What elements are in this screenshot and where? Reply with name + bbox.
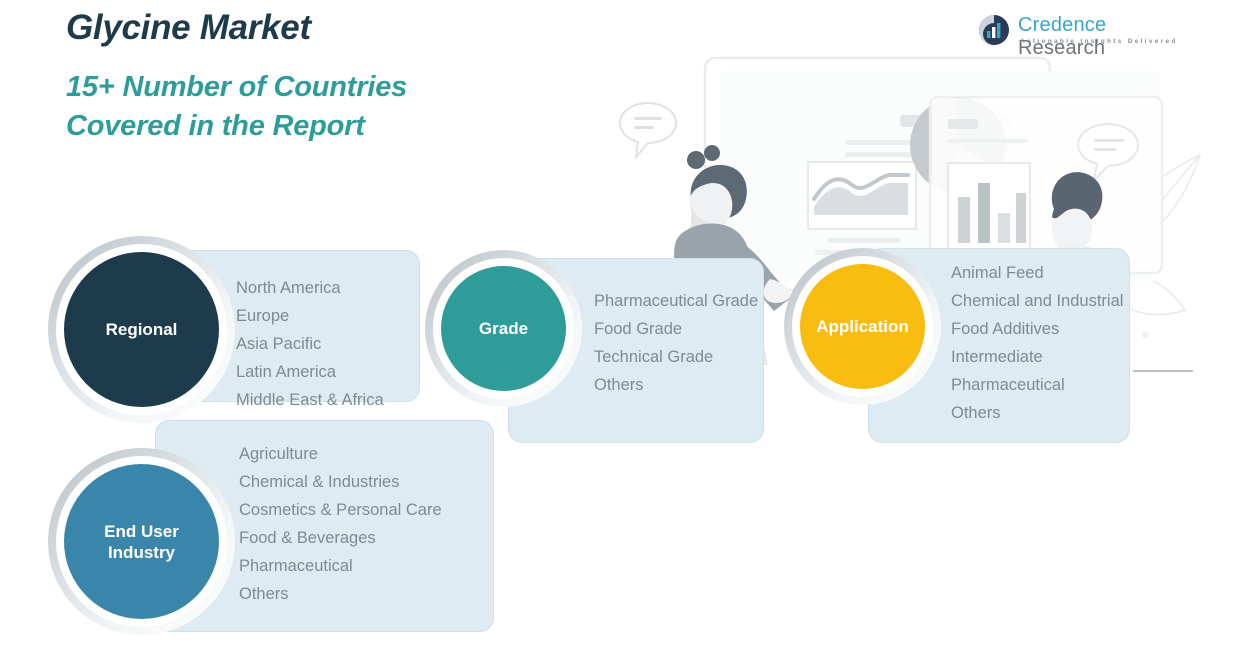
credence-research-logo: Credence Research Actionable Insights De… bbox=[978, 12, 1178, 52]
segment-node-application[interactable]: Application bbox=[784, 248, 941, 405]
page-subtitle: 15+ Number of Countries Covered in the R… bbox=[66, 68, 586, 146]
segment-items-regional: North America Europe Asia Pacific Latin … bbox=[236, 274, 421, 414]
node-disc-grade: Grade bbox=[441, 266, 566, 391]
segment-items-end-user-industry: Agriculture Chemical & Industries Cosmet… bbox=[239, 440, 494, 608]
node-disc-regional: Regional bbox=[64, 252, 219, 407]
segment-node-grade[interactable]: Grade bbox=[425, 250, 582, 407]
decorative-line bbox=[1133, 370, 1193, 372]
node-disc-end-user-industry: End User Industry bbox=[64, 464, 219, 619]
logo-wordmark: Credence Research bbox=[1018, 14, 1178, 60]
speech-bubble-left bbox=[620, 103, 676, 157]
node-disc-application: Application bbox=[800, 264, 925, 389]
page-title: Glycine Market bbox=[66, 8, 311, 48]
segment-items-grade: Pharmaceutical Grade Food Grade Technica… bbox=[594, 287, 759, 399]
segment-node-regional[interactable]: Regional bbox=[48, 236, 235, 423]
logo-word-credence: Credence bbox=[1018, 14, 1106, 36]
logo-tagline: Actionable Insights Delivered bbox=[1020, 38, 1178, 45]
infographic-canvas: Glycine Market 15+ Number of Countries C… bbox=[0, 0, 1242, 667]
segment-items-application: Animal Feed Chemical and Industrial Food… bbox=[951, 259, 1131, 427]
segment-node-end-user-industry[interactable]: End User Industry bbox=[48, 448, 235, 635]
bar-chart-circle-icon bbox=[978, 14, 1010, 46]
